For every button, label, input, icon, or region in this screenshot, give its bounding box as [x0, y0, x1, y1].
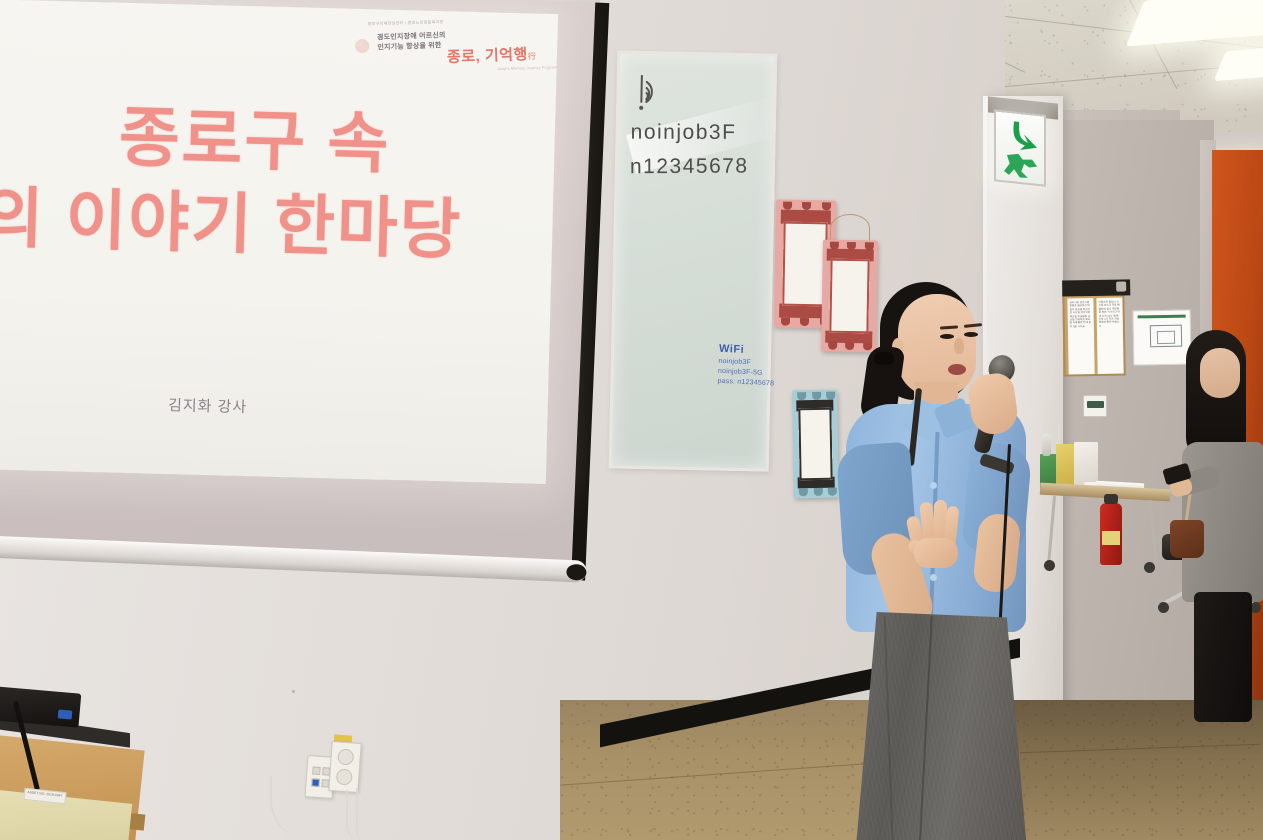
wall-power-outlet[interactable]	[328, 741, 361, 793]
power-socket	[336, 768, 353, 785]
projector-screen: 종로구치매안심센터 / 종로노인종합복지관 경도인지장애 어르신의 인지기능 향…	[0, 0, 622, 603]
projected-slide: 종로구치매안심센터 / 종로노인종합복지관 경도인지장애 어르신의 인지기능 향…	[0, 0, 558, 484]
palm	[914, 538, 958, 568]
bulletin-notice-column: 공지사항 프로그램 일정표 월요일 인지놀이 화요일 회상치료 수요일 음악치료…	[1067, 298, 1094, 374]
slide-logo-icon	[355, 39, 369, 53]
wall-mark	[292, 690, 295, 693]
black-av-device[interactable]	[0, 686, 81, 727]
scroll-floral-pattern	[802, 415, 829, 472]
emergency-exit-sign	[994, 109, 1046, 186]
slide-header-subtitle: 경도인지장애 어르신의 인지기능 향상을 위한	[377, 31, 446, 53]
attendee-face	[1200, 348, 1240, 398]
slide-header-main-suffix: 行	[528, 52, 537, 61]
table-supplies	[1040, 430, 1110, 490]
slide-header-faint: Jongno Memory Journey Program	[497, 65, 558, 72]
slide-presenter-name: 김지화 강사	[0, 388, 488, 424]
attendee-legs	[1194, 592, 1252, 722]
slide-title: 종로구 속 의 이야기 한마당	[0, 90, 526, 274]
power-cable	[356, 788, 364, 840]
whiteboard[interactable]: noinjob3F n12345678 WiFi noinjob3F noinj…	[609, 50, 778, 471]
shirt-button	[930, 574, 937, 581]
brown-handbag	[1170, 520, 1204, 558]
notice-header-bar	[1138, 315, 1186, 319]
wall-thermostat[interactable]	[1083, 395, 1107, 417]
network-port	[312, 766, 321, 775]
speaker-gray-trousers	[852, 612, 1028, 840]
wifi-icon	[635, 72, 682, 119]
speaker-eye	[964, 332, 978, 337]
scroll-floral-pattern	[787, 230, 823, 298]
whiteboard-wifi-password: n12345678	[630, 155, 749, 180]
slide-title-line-2: 의 이야기 한마당	[0, 174, 523, 274]
blue-note-line-3: pass: n12345678	[717, 378, 779, 388]
fire-extinguisher[interactable]	[1100, 503, 1122, 565]
speaker-face	[898, 294, 976, 396]
bulletin-board-header	[1062, 279, 1130, 296]
blue-note-title: WiFi	[719, 343, 781, 358]
speaker-mouth	[948, 364, 966, 375]
scroll-hanger-string	[830, 214, 870, 242]
woman-checking-phone	[1168, 330, 1263, 730]
slide-header-main-text: 종로, 기억행	[447, 46, 528, 66]
bulletin-board: 공지사항 프로그램 일정표 월요일 인지놀이 화요일 회상치료 수요일 음악치료…	[1062, 291, 1125, 376]
slide-title-line-1: 종로구 속	[0, 90, 526, 190]
slide-header-micro: 종로구치매안심센터 / 종로노인종합복지관	[368, 19, 444, 27]
photo-scene: 종로구치매안심센터 / 종로노인종합복지관 경도인지장애 어르신의 인지기능 향…	[0, 0, 1263, 840]
bulletin-notice-column: 이용수칙 출입시 손소독 마스크 착용 발열체크 실시 개인물품 보관 식사시간…	[1096, 297, 1123, 373]
shirt-button	[930, 482, 937, 489]
extinguisher-label	[1102, 531, 1120, 545]
extinguisher-handle	[1104, 494, 1118, 504]
power-socket	[337, 748, 354, 765]
instructor-speaking	[828, 276, 1048, 840]
speaker-eye	[940, 334, 954, 339]
blue-note-line-2: noinjob3F-5G	[718, 368, 780, 378]
whiteboard-blue-note: WiFi noinjob3F noinjob3F-5G pass: n12345…	[716, 343, 782, 424]
arrow-down-right-icon	[1006, 119, 1040, 159]
speaker-hair-tie	[874, 352, 894, 365]
slide-header-sub-line2: 인지기능 향상을 위한	[377, 42, 441, 51]
bulletin-header-emblem-icon	[1116, 281, 1126, 291]
whiteboard-wifi-ssid: noinjob3F	[631, 121, 737, 145]
speaker-nose	[954, 338, 964, 354]
scroll-artwork	[783, 221, 828, 306]
device-blue-port-icon	[58, 709, 73, 719]
slide-header-sub-line1: 경도인지장애 어르신의	[377, 32, 446, 41]
speaker-gesturing-hand	[908, 494, 966, 568]
blue-note-line-1: noinjob3F	[718, 358, 780, 368]
slide-header-main: 종로, 기억행行	[447, 43, 537, 67]
